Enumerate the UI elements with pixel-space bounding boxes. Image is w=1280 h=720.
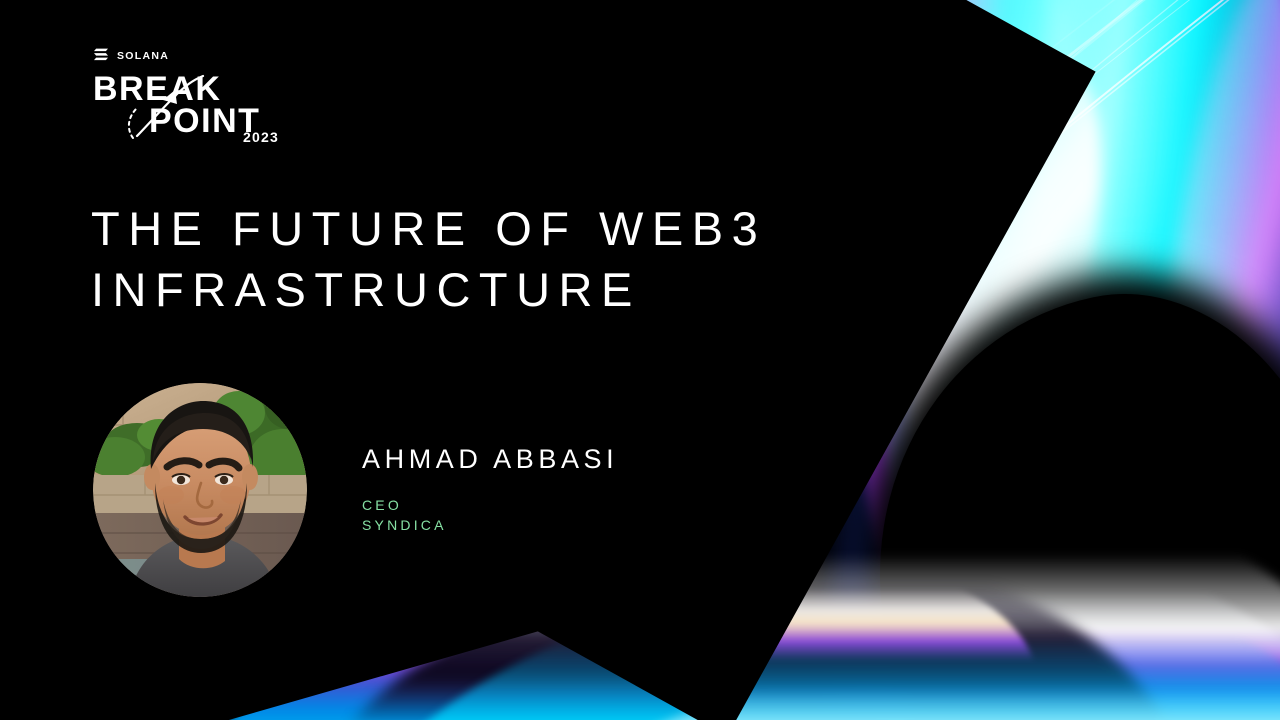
speaker-name: AHMAD ABBASI	[362, 446, 618, 473]
breakpoint-wordmark: BREAK POINT 2023	[93, 70, 289, 142]
bottom-wave-iridescent	[150, 460, 1280, 720]
bottom-wave-white-edge	[560, 650, 1280, 720]
slide-title: THE FUTURE OF WEB3 INFRASTRUCTURE	[91, 198, 891, 320]
speaker-company: SYNDICA	[362, 515, 618, 535]
breakpoint-brand-logo: SOLANA BREAK POINT 2023	[93, 48, 323, 142]
speaker-details: AHMAD ABBASI CEO SYNDICA	[362, 446, 618, 535]
cyan-ribbon-layer	[528, 0, 1280, 720]
green-tint-layer	[1110, 180, 1280, 610]
speaker-role: CEO	[362, 495, 618, 515]
speaker-avatar-photo	[93, 383, 307, 597]
solana-wordmark: SOLANA	[117, 49, 193, 62]
speaker-avatar	[93, 383, 307, 597]
violet-right-edge-layer	[1125, 0, 1280, 720]
bottom-wave-white	[130, 520, 1280, 720]
speaker-affiliation: CEO SYNDICA	[362, 495, 618, 535]
lens-glow-layer	[1003, 230, 1280, 720]
pink-highlight-streak	[870, 48, 1141, 532]
presentation-slide: SOLANA BREAK POINT 2023 THE FUTURE OF WE…	[0, 0, 1280, 720]
breakpoint-year: 2023	[243, 129, 279, 142]
svg-text:SOLANA: SOLANA	[117, 50, 169, 62]
bottom-wave-dark-band	[300, 560, 1200, 720]
black-lens-void	[826, 256, 1280, 720]
bottom-wave-cyan	[330, 570, 1280, 720]
solana-logo: SOLANA	[93, 48, 323, 62]
solana-logo-mark	[93, 48, 109, 62]
magenta-rim-layer	[817, 0, 1124, 720]
cyan-core-layer	[862, 0, 1280, 720]
bottom-wave-gold-highlight	[620, 572, 1040, 692]
